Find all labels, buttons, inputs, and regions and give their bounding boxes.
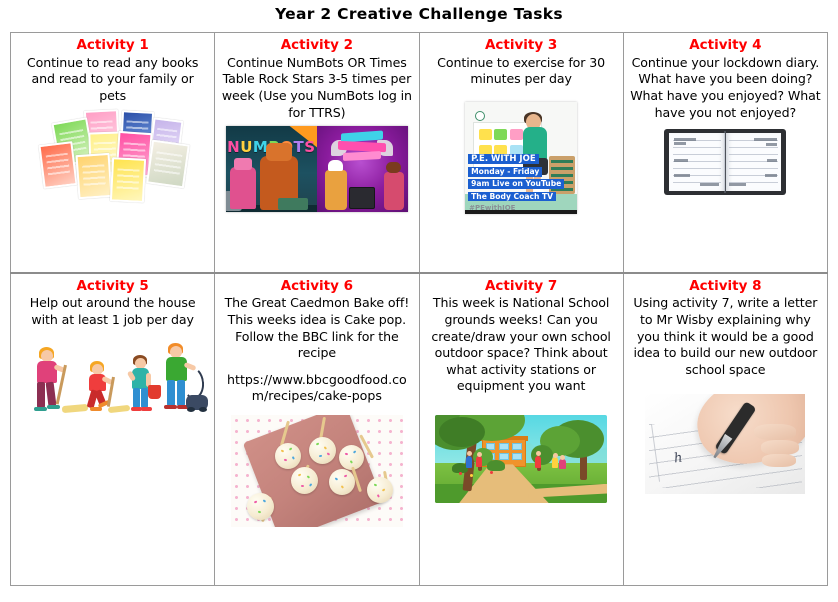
guitarist-left-icon	[325, 170, 347, 210]
activity-image-wrap	[630, 129, 821, 195]
activity-description: Continue your lockdown diary. What have …	[630, 55, 821, 121]
writing-letter-image: ℎ	[645, 394, 805, 494]
joe-caption-line-4: The Body Coach TV	[468, 192, 556, 201]
childrens-books-image	[25, 110, 201, 210]
activity-heading: Activity 5	[76, 278, 148, 295]
figure-bucket	[126, 355, 160, 413]
activity-cell-5[interactable]: Activity 5 Help out around the house wit…	[11, 273, 215, 586]
activity-image-wrap: P.E. WITH JOE Monday - Friday 9am Live o…	[426, 102, 617, 214]
pe-with-joe-image: P.E. WITH JOE Monday - Friday 9am Live o…	[465, 102, 577, 214]
family-chores-image	[20, 341, 206, 413]
activity-image-wrap	[426, 415, 617, 503]
child-figure	[552, 457, 558, 468]
open-diary-image	[664, 129, 786, 195]
child-figure	[476, 456, 482, 467]
activity-heading: Activity 6	[281, 278, 353, 295]
activity-description: This week is National School grounds wee…	[426, 295, 617, 395]
child-figure-head	[553, 453, 558, 458]
activity-heading: Activity 7	[485, 278, 557, 295]
table-row: Activity 5 Help out around the house wit…	[11, 273, 828, 586]
cake-pop	[247, 493, 274, 520]
cake-pops-image	[231, 415, 403, 527]
amplifier-icon	[349, 187, 375, 209]
activity-cell-3[interactable]: Activity 3 Continue to exercise for 30 m…	[419, 33, 623, 273]
cake-pop	[309, 437, 336, 464]
activity-cell-7[interactable]: Activity 7 This week is National School …	[419, 273, 623, 586]
numbots-ttrs-image: NUMBOTS	[226, 126, 408, 212]
activity-description: Continue to read any books and read to y…	[17, 55, 208, 105]
child-figure-head	[560, 455, 565, 460]
activity-description: The Great Caedmon Bake off! This weeks i…	[221, 295, 412, 361]
worksheet-page: Year 2 Creative Challenge Tasks Activity…	[0, 0, 838, 602]
activity-heading: Activity 8	[689, 278, 761, 295]
cake-pop	[367, 477, 393, 503]
ttrs-logo-icon	[333, 132, 391, 162]
table-row: Activity 1 Continue to read any books an…	[11, 33, 828, 273]
activity-description: Help out around the house with at least …	[17, 295, 208, 328]
ttrs-panel	[317, 126, 408, 212]
robot-pink-icon	[230, 167, 256, 209]
child-figure	[466, 456, 472, 468]
activity-cell-6[interactable]: Activity 6 The Great Caedmon Bake off! T…	[215, 273, 419, 586]
activity-image-wrap: NUMBOTS	[221, 126, 412, 212]
numbots-panel: NUMBOTS	[226, 126, 317, 212]
recipe-link[interactable]: https://www.bbcgoodfood.com/recipes/cake…	[221, 372, 412, 405]
guitarist-right-icon	[384, 172, 404, 210]
joe-caption-line-2: Monday - Friday	[468, 167, 542, 176]
cake-pop	[291, 467, 318, 494]
activity-cell-1[interactable]: Activity 1 Continue to read any books an…	[11, 33, 215, 273]
activity-image-wrap	[221, 415, 412, 527]
activity-cell-2[interactable]: Activity 2 Continue NumBots OR Times Tab…	[215, 33, 419, 273]
activity-heading: Activity 2	[281, 37, 353, 54]
cake-pop	[275, 443, 301, 469]
activity-description: Using activity 7, write a letter to Mr W…	[630, 295, 821, 378]
activity-image-wrap	[17, 341, 208, 413]
activity-heading: Activity 3	[485, 37, 557, 54]
joe-caption-line-3: 9am Live on YouTube	[468, 179, 564, 188]
cake-pop	[329, 469, 355, 495]
figure-vacuuming	[160, 343, 206, 413]
figure-sweeping	[82, 361, 118, 413]
child-figure-head	[536, 451, 541, 456]
activity-image-wrap	[17, 110, 208, 210]
school-grounds-image	[435, 415, 607, 503]
child-figure	[559, 459, 566, 469]
figure-mopping	[28, 347, 68, 413]
activity-description: Continue to exercise for 30 minutes per …	[426, 55, 617, 88]
activity-heading: Activity 1	[76, 37, 148, 54]
activity-cell-4[interactable]: Activity 4 Continue your lockdown diary.…	[623, 33, 827, 273]
activities-table: Activity 1 Continue to read any books an…	[10, 32, 828, 586]
child-figure	[535, 456, 541, 468]
activity-cell-8[interactable]: Activity 8 Using activity 7, write a let…	[623, 273, 827, 586]
activity-heading: Activity 4	[689, 37, 761, 54]
page-title: Year 2 Creative Challenge Tasks	[0, 5, 838, 23]
activity-image-wrap: ℎ	[630, 394, 821, 494]
child-figure-head	[467, 451, 472, 456]
joe-caption-line-1: P.E. WITH JOE	[468, 154, 539, 165]
activity-description: Continue NumBots OR Times Table Rock Sta…	[221, 55, 412, 121]
